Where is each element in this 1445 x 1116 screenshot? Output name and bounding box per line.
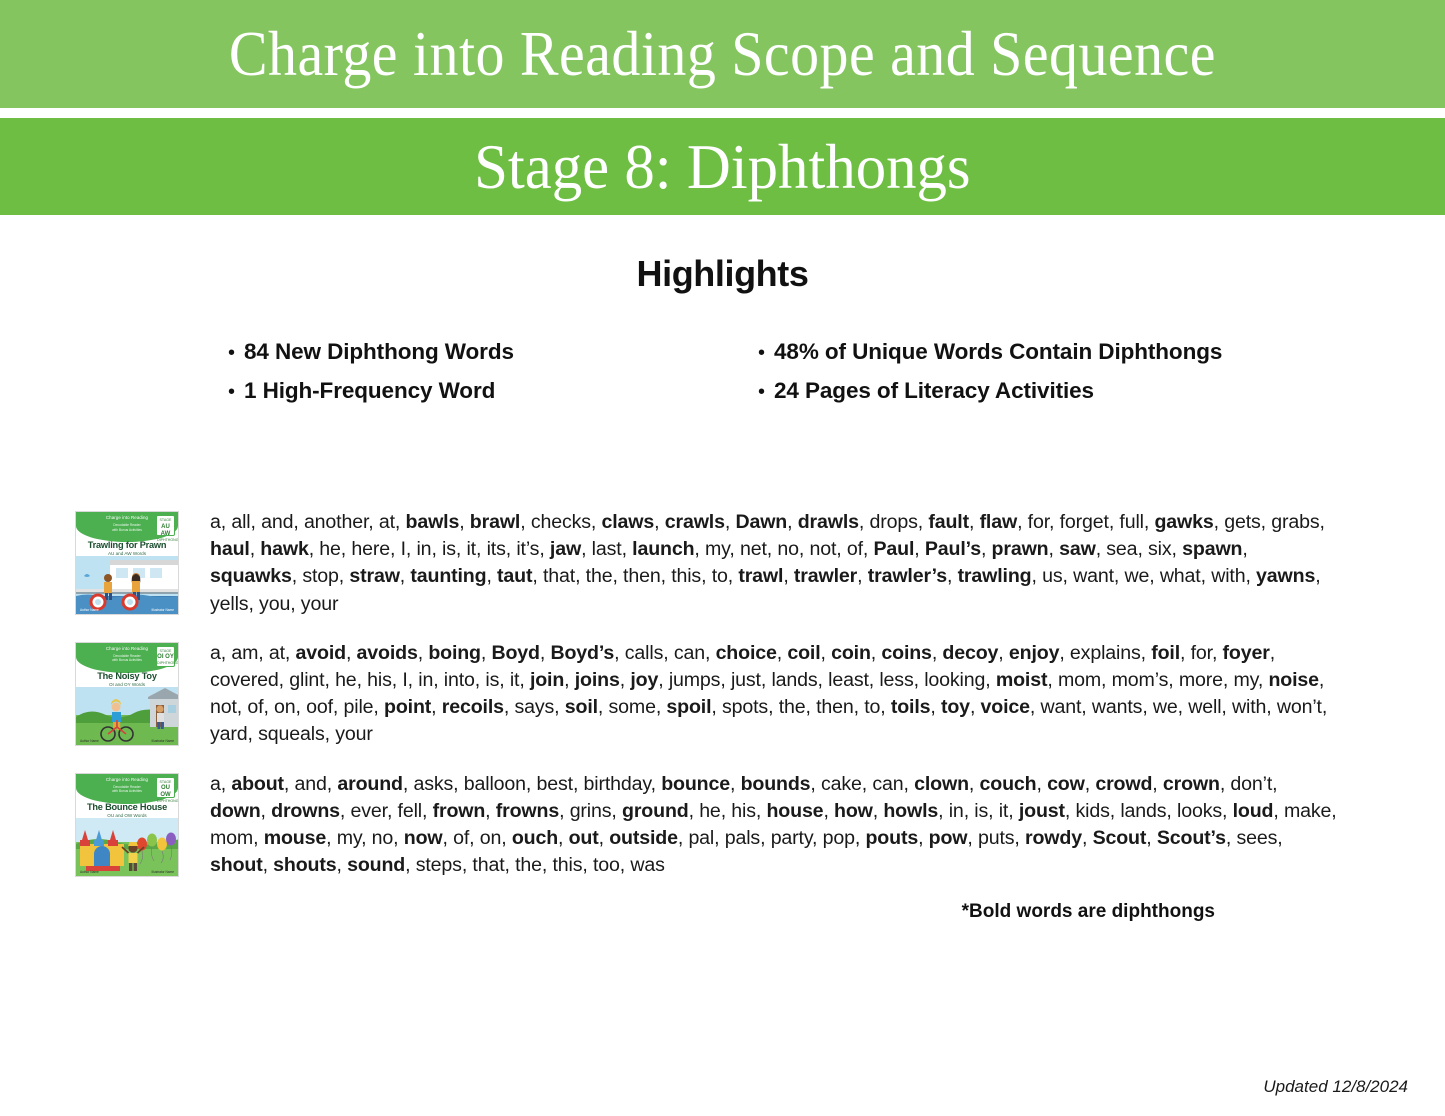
- word-bold: pow: [929, 827, 968, 849]
- word-bold: soil: [565, 696, 598, 718]
- word-bold: claws: [602, 511, 655, 533]
- highlight-left-1: 84 New Diphthong Words: [244, 339, 514, 365]
- word: says: [514, 696, 554, 718]
- word-bold: drawls: [798, 511, 859, 533]
- word-list-2: a, am, at, avoid, avoids, boing, Boyd, B…: [185, 640, 1337, 749]
- word-bold: taunting: [410, 565, 486, 587]
- word: looking: [924, 669, 985, 691]
- cover-brand-sub-line2: with Bonus Activities: [112, 528, 142, 532]
- book-cover-the-noisy-toy: Charge into Reading Decodable Reader wit…: [75, 642, 179, 746]
- word: at: [379, 511, 395, 533]
- word-bold: crowd: [1095, 773, 1152, 795]
- badge-top-label: STAGE: [160, 518, 172, 522]
- word: is: [974, 800, 988, 822]
- word: then: [623, 565, 661, 587]
- word-bold: bawls: [406, 511, 460, 533]
- word: squeals: [258, 723, 325, 745]
- list-item: • 24 Pages of Literacy Activities: [758, 378, 1358, 404]
- highlights-bullets: • 84 New Diphthong Words • 1 High-Freque…: [0, 339, 1445, 417]
- word-bold: couch: [980, 773, 1037, 795]
- word-bold: voice: [981, 696, 1030, 718]
- word-bold: Boyd’s: [550, 642, 614, 664]
- word: grabs: [1271, 511, 1319, 533]
- word: it: [466, 538, 476, 560]
- word: us: [1042, 565, 1062, 587]
- word: too: [593, 854, 620, 876]
- cover-illustrator: Illustrator Name: [152, 870, 175, 874]
- cover-title: Trawling for Prawn: [76, 540, 178, 550]
- word: I: [401, 538, 406, 560]
- word-bold: frowns: [496, 800, 559, 822]
- word: explains: [1070, 642, 1141, 664]
- list-item: • 84 New Diphthong Words: [228, 339, 758, 365]
- bullet-icon: •: [758, 343, 774, 363]
- word-bold: spawn: [1182, 538, 1242, 560]
- word-bold: house: [766, 800, 823, 822]
- word: on: [480, 827, 502, 849]
- word-bold: fault: [928, 511, 969, 533]
- word-bold: recoils: [442, 696, 504, 718]
- word-bold: ouch: [512, 827, 558, 849]
- word-bold: how: [834, 800, 873, 822]
- word-bold: Boyd: [491, 642, 539, 664]
- word: he: [319, 538, 341, 560]
- word: balloon: [464, 773, 526, 795]
- word-bold: drowns: [271, 800, 340, 822]
- word: with: [1211, 565, 1245, 587]
- cover-credits: Author Name Illustrator Name: [80, 870, 174, 874]
- boat-scene-illustration: [76, 556, 179, 614]
- word: to: [712, 565, 728, 587]
- cover-brand-sub-line1: Decodable Reader: [113, 523, 141, 527]
- word: my: [1233, 669, 1257, 691]
- word: mom: [210, 827, 253, 849]
- word: checks: [531, 511, 591, 533]
- word-bold: coil: [787, 642, 820, 664]
- word: the: [515, 854, 542, 876]
- word: with: [1232, 696, 1266, 718]
- word-bold: howls: [883, 800, 938, 822]
- cover-brand-sub-line1: Decodable Reader: [113, 654, 141, 658]
- word: at: [269, 642, 285, 664]
- word: pop: [823, 827, 855, 849]
- table-row: Charge into Reading Decodable Reader wit…: [75, 509, 1337, 618]
- word: not: [809, 538, 836, 560]
- word-bold: choice: [716, 642, 777, 664]
- word: oof: [306, 696, 333, 718]
- cover-author: Author Name: [80, 739, 99, 743]
- word-bold: sound: [347, 854, 405, 876]
- word: want: [1040, 696, 1081, 718]
- cover-credits: Author Name Illustrator Name: [80, 608, 174, 612]
- word: calls: [625, 642, 663, 664]
- word: the: [586, 565, 613, 587]
- word-bold: brawl: [470, 511, 520, 533]
- word-bold: outside: [609, 827, 678, 849]
- word-bold: prawn: [992, 538, 1049, 560]
- word-bold: joy: [630, 669, 658, 691]
- word-bold: taut: [497, 565, 532, 587]
- word: lands: [771, 669, 817, 691]
- cover-credits: Author Name Illustrator Name: [80, 739, 174, 743]
- word-bold: Scout’s: [1157, 827, 1226, 849]
- word: in: [416, 538, 431, 560]
- word: can: [872, 773, 903, 795]
- word-bold: trawl: [738, 565, 783, 587]
- book-cover-cell: Charge into Reading Decodable Reader wit…: [75, 771, 185, 877]
- word: cake: [821, 773, 862, 795]
- word-bold: noise: [1268, 669, 1318, 691]
- bounce-house-scene-illustration: [76, 818, 179, 876]
- word-bold: hawk: [260, 538, 308, 560]
- word: I: [402, 669, 407, 691]
- bullet-icon: •: [228, 382, 244, 402]
- word: stop: [302, 565, 338, 587]
- word: forget: [1060, 511, 1109, 533]
- word-bold: loud: [1233, 800, 1274, 822]
- word-bold: decoy: [942, 642, 998, 664]
- word: is: [485, 669, 499, 691]
- word: you: [259, 593, 290, 615]
- word-bold: shout: [210, 854, 263, 876]
- person-at-door: [156, 705, 164, 729]
- word-bold: squawks: [210, 565, 292, 587]
- word: that: [472, 854, 504, 876]
- word: he: [699, 800, 721, 822]
- word: my: [337, 827, 361, 849]
- word: sees: [1236, 827, 1277, 849]
- word: is: [442, 538, 456, 560]
- word: we: [1124, 565, 1149, 587]
- word: of: [453, 827, 469, 849]
- word-bold: foyer: [1223, 642, 1270, 664]
- word: all: [231, 511, 250, 533]
- word: his: [731, 800, 756, 822]
- word: least: [828, 669, 869, 691]
- word-bold: join: [530, 669, 564, 691]
- word-bold: rowdy: [1025, 827, 1082, 849]
- word: of: [247, 696, 263, 718]
- highlight-right-1: 48% of Unique Words Contain Diphthongs: [774, 339, 1222, 365]
- word: pile: [344, 696, 374, 718]
- book-cover-the-bounce-house: Charge into Reading Decodable Reader wit…: [75, 773, 179, 877]
- word: fell: [398, 800, 422, 822]
- word: full: [1119, 511, 1143, 533]
- word-bold: Scout: [1093, 827, 1147, 849]
- word-bold: cow: [1047, 773, 1085, 795]
- word-bold: down: [210, 800, 261, 822]
- word: grins: [570, 800, 612, 822]
- word-bold: avoids: [357, 642, 418, 664]
- word: a: [210, 642, 221, 664]
- badge-top-label: STAGE: [160, 780, 172, 784]
- cover-author: Author Name: [80, 870, 99, 874]
- word-bold: bounce: [661, 773, 730, 795]
- word: for: [1191, 642, 1212, 664]
- word: what: [1160, 565, 1201, 587]
- word: well: [1188, 696, 1221, 718]
- word: best: [537, 773, 573, 795]
- word: last: [592, 538, 622, 560]
- header-band-subtitle: Stage 8: Diphthongs: [0, 118, 1445, 215]
- header-divider: [0, 108, 1445, 118]
- highlights-section: Highlights • 84 New Diphthong Words • 1 …: [0, 253, 1445, 417]
- word-bold: saw: [1059, 538, 1096, 560]
- word: jumps: [669, 669, 721, 691]
- cover-brand-sub-line1: Decodable Reader: [113, 785, 141, 789]
- word: of: [847, 538, 863, 560]
- word: to: [864, 696, 880, 718]
- cover-subtitle: AU and AW Words: [76, 551, 178, 556]
- word-bold: haul: [210, 538, 250, 560]
- word-bold: pouts: [865, 827, 918, 849]
- word: puts: [978, 827, 1014, 849]
- word: six: [1148, 538, 1172, 560]
- badge-main-label: AU AW: [157, 524, 174, 538]
- word: he: [335, 669, 357, 691]
- word: more: [1179, 669, 1223, 691]
- word-bold: now: [404, 827, 443, 849]
- cover-author: Author Name: [80, 608, 99, 612]
- word: glint: [289, 669, 324, 691]
- word-bold: yawns: [1256, 565, 1315, 587]
- word: it: [510, 669, 520, 691]
- word: your: [335, 723, 373, 745]
- badge-bottom-label: DIPHTHONGS: [157, 661, 179, 665]
- cover-illustrator: Illustrator Name: [152, 739, 175, 743]
- word-bold: Paul: [873, 538, 914, 560]
- word: it: [999, 800, 1009, 822]
- word: birthday: [584, 773, 651, 795]
- header-band-title: Charge into Reading Scope and Sequence: [0, 0, 1445, 108]
- word: on: [274, 696, 296, 718]
- cover-title: The Noisy Toy: [76, 671, 178, 681]
- word-bold: launch: [632, 538, 694, 560]
- list-item: • 1 High-Frequency Word: [228, 378, 758, 404]
- word: this: [671, 565, 701, 587]
- word: in: [949, 800, 964, 822]
- word-bold: straw: [349, 565, 399, 587]
- word-bold: Paul’s: [925, 538, 981, 560]
- word: then: [816, 696, 854, 718]
- cover-title: The Bounce House: [76, 802, 178, 812]
- badge-main-label: OU OW: [157, 785, 174, 799]
- highlights-column-right: • 48% of Unique Words Contain Diphthongs…: [758, 339, 1358, 417]
- cover-subtitle: OU and OW Words: [76, 813, 178, 818]
- word: for: [1028, 511, 1049, 533]
- stage-subtitle: Stage 8: Diphthongs: [474, 135, 971, 199]
- cover-stage-badge: STAGE OI OY DIPHTHONGS: [156, 646, 175, 667]
- word: no: [372, 827, 394, 849]
- word: the: [779, 696, 806, 718]
- bullet-icon: •: [228, 343, 244, 363]
- word-bold: frown: [433, 800, 486, 822]
- word: a: [210, 511, 221, 533]
- word-bold: crown: [1163, 773, 1220, 795]
- word: drops: [870, 511, 918, 533]
- word: no: [777, 538, 799, 560]
- word-bold: mouse: [264, 827, 326, 849]
- word-bold: joins: [575, 669, 620, 691]
- word: mom: [1058, 669, 1101, 691]
- word: asks: [413, 773, 453, 795]
- bicycle-scene-illustration: [76, 687, 179, 745]
- word: want: [1073, 565, 1114, 587]
- highlight-left-2: 1 High-Frequency Word: [244, 378, 495, 404]
- word: mom’s: [1112, 669, 1169, 691]
- word: his: [367, 669, 392, 691]
- word: that: [543, 565, 575, 587]
- badge-top-label: STAGE: [160, 649, 172, 653]
- word-bold: shouts: [273, 854, 336, 876]
- highlights-heading: Highlights: [0, 253, 1445, 295]
- word: covered: [210, 669, 279, 691]
- word: ever: [351, 800, 387, 822]
- word: and: [261, 511, 293, 533]
- word: yard: [210, 723, 248, 745]
- word-bold: bounds: [741, 773, 811, 795]
- word: a: [210, 773, 221, 795]
- word-bold: jaw: [550, 538, 581, 560]
- word: here: [351, 538, 390, 560]
- cover-stage-badge: STAGE AU AW DIPHTHONGS: [156, 515, 175, 536]
- word-bold: joust: [1019, 800, 1065, 822]
- word: its: [487, 538, 506, 560]
- word-list-1: a, all, and, another, at, bawls, brawl, …: [185, 509, 1337, 618]
- word: not: [210, 696, 237, 718]
- word: some: [609, 696, 656, 718]
- word: won’t: [1277, 696, 1322, 718]
- word-bold: spoil: [666, 696, 711, 718]
- word-bold: Dawn: [735, 511, 787, 533]
- highlights-column-left: • 84 New Diphthong Words • 1 High-Freque…: [228, 339, 758, 417]
- word: looks: [1177, 800, 1222, 822]
- highlight-right-2: 24 Pages of Literacy Activities: [774, 378, 1094, 404]
- word: make: [1284, 800, 1331, 822]
- word-bold: clown: [914, 773, 969, 795]
- word: just: [731, 669, 761, 691]
- book-cover-cell: Charge into Reading Decodable Reader wit…: [75, 509, 185, 615]
- word: wants: [1092, 696, 1142, 718]
- list-item: • 48% of Unique Words Contain Diphthongs: [758, 339, 1358, 365]
- word-list-3: a, about, and, around, asks, balloon, be…: [185, 771, 1337, 880]
- word: this: [552, 854, 582, 876]
- word-bold: flaw: [980, 511, 1018, 533]
- word: less: [879, 669, 913, 691]
- book-cover-cell: Charge into Reading Decodable Reader wit…: [75, 640, 185, 746]
- word-bold: moist: [996, 669, 1048, 691]
- word: party: [771, 827, 812, 849]
- word-bold: about: [231, 773, 284, 795]
- book-cover-trawling-for-prawn: Charge into Reading Decodable Reader wit…: [75, 511, 179, 615]
- word-bold: out: [569, 827, 599, 849]
- word: gets: [1224, 511, 1260, 533]
- word: in: [418, 669, 433, 691]
- table-row: Charge into Reading Decodable Reader wit…: [75, 640, 1337, 749]
- word: net: [740, 538, 767, 560]
- word-bold: gawks: [1154, 511, 1213, 533]
- cover-brand-sub-line2: with Bonus Activities: [112, 658, 142, 662]
- word-bold: trawler: [794, 565, 857, 587]
- word: we: [1153, 696, 1178, 718]
- word: pals: [725, 827, 760, 849]
- word: my: [705, 538, 729, 560]
- word: and: [295, 773, 327, 795]
- badge-main-label: OI OY: [157, 654, 174, 661]
- word: your: [301, 593, 339, 615]
- cover-stage-badge: STAGE OU OW DIPHTHONGS: [156, 777, 175, 798]
- cover-subtitle: OI and OY Words: [76, 682, 178, 687]
- word-bold: crawls: [665, 511, 725, 533]
- word-list-rows: Charge into Reading Decodable Reader wit…: [0, 509, 1445, 879]
- bullet-icon: •: [758, 382, 774, 402]
- word: am: [231, 642, 258, 664]
- cover-brand-sub-line2: with Bonus Activities: [112, 789, 142, 793]
- word: lands: [1120, 800, 1166, 822]
- word: spots: [722, 696, 768, 718]
- word-bold: coins: [881, 642, 931, 664]
- word-bold: trawling: [958, 565, 1032, 587]
- word: it’s: [516, 538, 539, 560]
- word-bold: around: [337, 773, 403, 795]
- cover-illustrator: Illustrator Name: [152, 608, 175, 612]
- word: pal: [688, 827, 714, 849]
- word-bold: enjoy: [1009, 642, 1059, 664]
- word-bold: avoid: [296, 642, 346, 664]
- word-bold: coin: [831, 642, 871, 664]
- table-row: Charge into Reading Decodable Reader wit…: [75, 771, 1337, 880]
- word-bold: toy: [941, 696, 970, 718]
- word: can: [674, 642, 705, 664]
- word: kids: [1075, 800, 1109, 822]
- bold-words-footnote: *Bold words are diphthongs: [0, 901, 1445, 923]
- updated-date: Updated 12/8/2024: [1263, 1077, 1408, 1097]
- word: sea: [1106, 538, 1137, 560]
- word: yells: [210, 593, 248, 615]
- word: was: [630, 854, 664, 876]
- word-bold: point: [384, 696, 431, 718]
- word: into: [444, 669, 475, 691]
- word: another: [304, 511, 368, 533]
- word-bold: trawler’s: [868, 565, 947, 587]
- page-title: Charge into Reading Scope and Sequence: [229, 23, 1216, 86]
- word-bold: ground: [622, 800, 689, 822]
- word-bold: foil: [1151, 642, 1180, 664]
- word-bold: toils: [891, 696, 931, 718]
- word-bold: boing: [428, 642, 481, 664]
- word: steps: [416, 854, 462, 876]
- word: don’t: [1230, 773, 1272, 795]
